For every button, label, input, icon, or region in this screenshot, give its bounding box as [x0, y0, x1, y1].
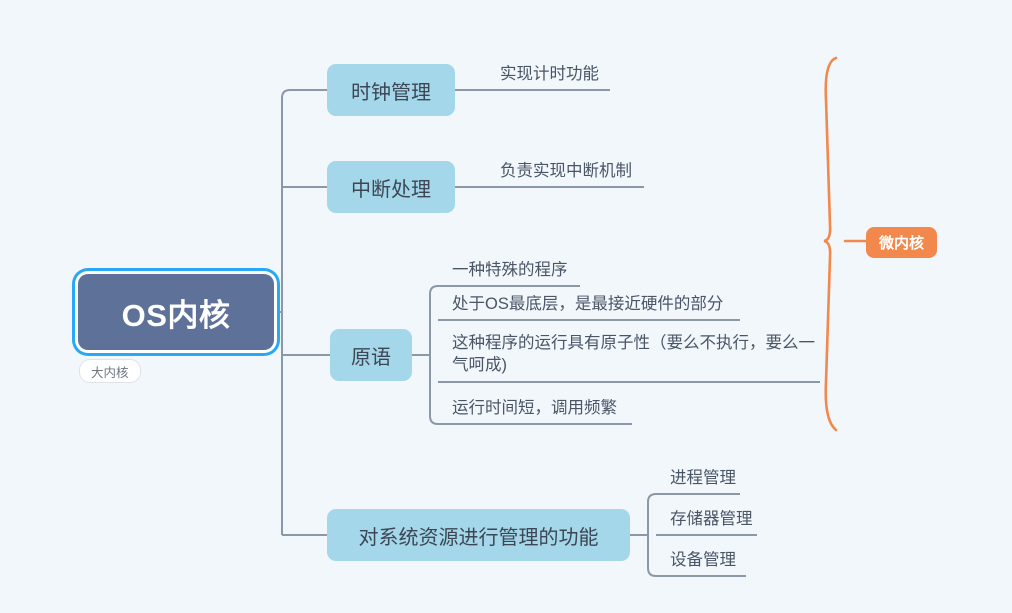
mindmap-canvas[interactable]: OS内核 大内核 时钟管理 实现计时功能 中断处理 负责实现中断机制 原语 一种… [0, 0, 1012, 613]
leaf-node-label: 处于OS最底层，是最接近硬件的部分 [452, 293, 723, 315]
leaf-node-short-runtime[interactable]: 运行时间短，调用频繁 [444, 392, 644, 424]
branch-node-primitive[interactable]: 原语 [330, 329, 412, 381]
leaf-node-atomicity[interactable]: 这种程序的运行具有原子性（要么不执行，要么一气呵成) [444, 330, 826, 382]
leaf-node-label: 一种特殊的程序 [452, 259, 568, 281]
root-tag-label: 大内核 [91, 362, 129, 381]
leaf-node-interrupt-mechanism[interactable]: 负责实现中断机制 [492, 155, 646, 187]
branch-node-clock-management[interactable]: 时钟管理 [327, 64, 455, 116]
leaf-node-lowest-layer[interactable]: 处于OS最底层，是最接近硬件的部分 [444, 288, 744, 320]
branch-node-label: 原语 [351, 341, 391, 370]
branch-node-interrupt-handling[interactable]: 中断处理 [327, 161, 455, 213]
leaf-node-label: 设备管理 [670, 549, 736, 571]
leaf-node-label: 存储器管理 [670, 508, 753, 530]
leaf-node-label: 进程管理 [670, 467, 736, 489]
root-node-tag-da-nei-he[interactable]: 大内核 [79, 359, 141, 383]
leaf-node-label: 运行时间短，调用频繁 [452, 397, 617, 419]
leaf-node-special-program[interactable]: 一种特殊的程序 [444, 254, 584, 286]
branch-node-label: 中断处理 [351, 173, 431, 202]
leaf-node-process-management[interactable]: 进程管理 [662, 462, 752, 494]
leaf-node-device-management[interactable]: 设备管理 [662, 544, 752, 576]
leaf-node-label: 这种程序的运行具有原子性（要么不执行，要么一气呵成) [452, 332, 822, 377]
leaf-node-label: 实现计时功能 [500, 63, 599, 85]
leaf-node-timing-function[interactable]: 实现计时功能 [492, 58, 612, 90]
summary-node-label: 微内核 [879, 232, 924, 253]
branch-node-label: 时钟管理 [351, 76, 431, 105]
root-node-label: OS内核 [122, 290, 231, 335]
leaf-node-label: 负责实现中断机制 [500, 160, 632, 182]
root-node-os-kernel[interactable]: OS内核 [78, 274, 274, 350]
branch-node-label: 对系统资源进行管理的功能 [359, 521, 599, 550]
summary-node-microkernel[interactable]: 微内核 [866, 227, 937, 258]
branch-node-resource-management[interactable]: 对系统资源进行管理的功能 [327, 509, 630, 561]
leaf-node-storage-management[interactable]: 存储器管理 [662, 503, 768, 535]
